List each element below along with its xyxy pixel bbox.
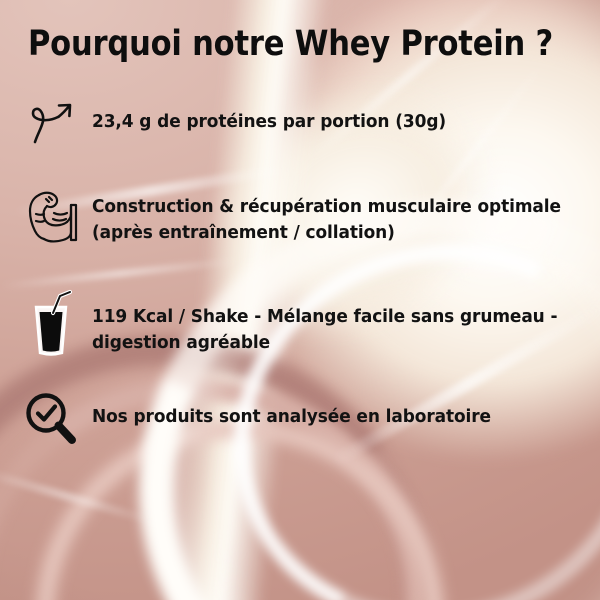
- growth-arrow-icon: [22, 100, 80, 144]
- page-title: Pourquoi notre Whey Protein ?: [28, 24, 553, 64]
- benefit-item-muscle: Construction & récupération musculaire o…: [22, 186, 575, 248]
- whey-protein-benefits-poster: Pourquoi notre Whey Protein ? 23,4 g de …: [0, 0, 600, 600]
- benefit-item-lab-tested: Nos produits sont analysée en laboratoir…: [22, 390, 503, 448]
- benefit-text-shake: 119 Kcal / Shake - Mélange facile sans g…: [92, 288, 557, 356]
- benefit-text-lab-tested: Nos produits sont analysée en laboratoir…: [92, 390, 491, 430]
- shake-glass-icon: [22, 288, 80, 360]
- benefit-item-protein: 23,4 g de protéines par portion (30g): [22, 100, 457, 144]
- flexed-biceps-icon: [22, 186, 80, 248]
- magnifier-check-icon: [22, 390, 80, 448]
- benefit-text-protein: 23,4 g de protéines par portion (30g): [92, 100, 446, 135]
- benefit-text-muscle: Construction & récupération musculaire o…: [92, 186, 561, 246]
- poster-content: Pourquoi notre Whey Protein ? 23,4 g de …: [0, 0, 600, 600]
- benefit-item-shake: 119 Kcal / Shake - Mélange facile sans g…: [22, 288, 572, 360]
